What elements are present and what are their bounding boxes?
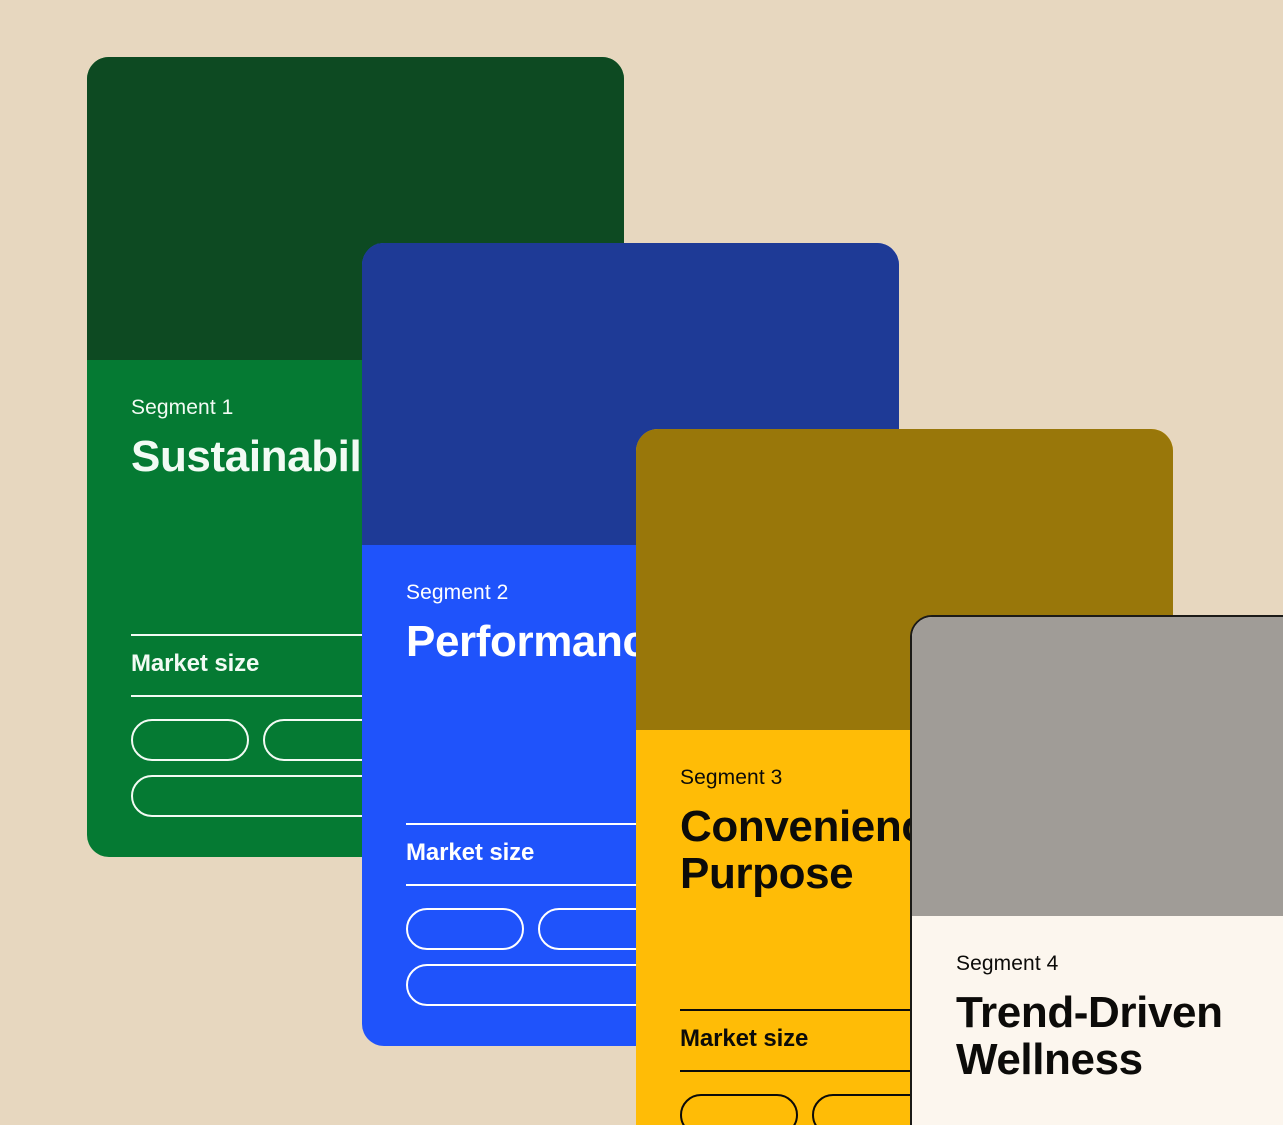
- segment-card-4[interactable]: Segment 4 Trend-Driven Wellness Market s…: [910, 615, 1283, 1125]
- card-body-4: Segment 4 Trend-Driven Wellness Market s…: [912, 916, 1283, 1125]
- segment-title-4: Trend-Driven Wellness: [956, 990, 1283, 1083]
- card-stack-canvas: Segment 1 Sustainability Market size: [0, 0, 1283, 1125]
- tag-pill[interactable]: [131, 719, 249, 761]
- card-image-placeholder-4: [912, 617, 1283, 916]
- tag-pill[interactable]: [680, 1094, 798, 1125]
- tag-pill[interactable]: [406, 908, 524, 950]
- segment-label-4: Segment 4: [956, 951, 1283, 976]
- card-spacer-4: [956, 1083, 1283, 1125]
